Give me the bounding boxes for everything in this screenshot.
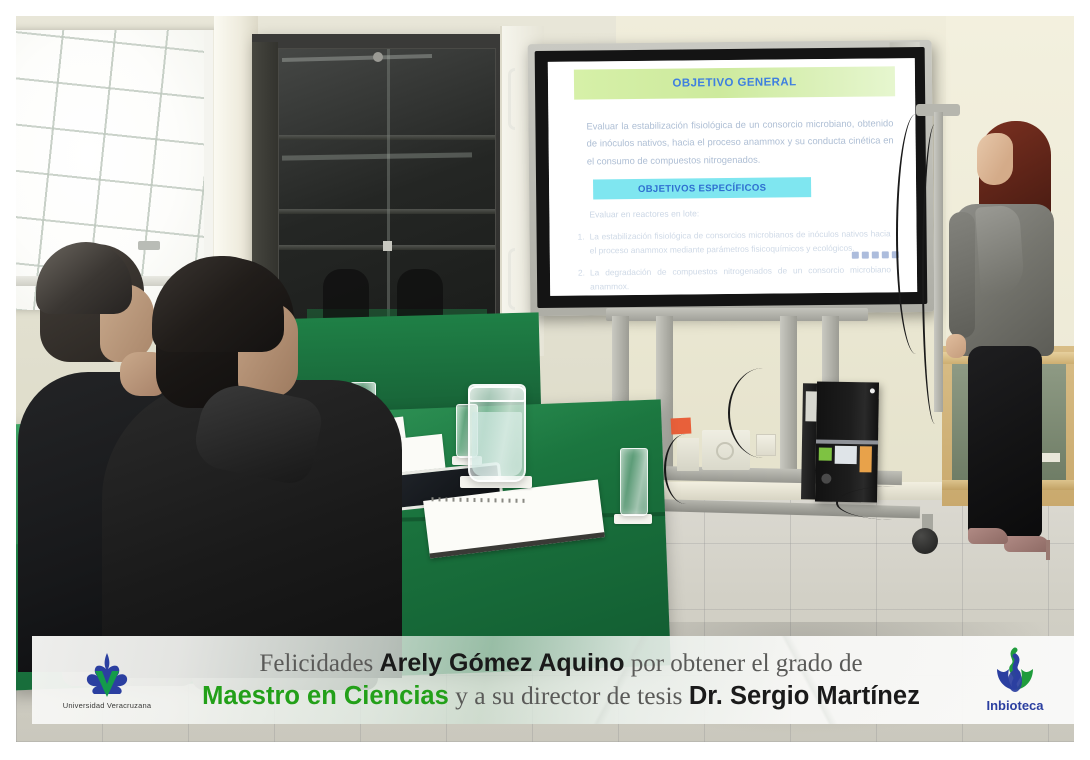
screen-display: OBJETIVO GENERAL Evaluar la estabilizaci…	[548, 58, 917, 296]
event-photograph: OBJETIVO GENERAL Evaluar la estabilizaci…	[16, 16, 1074, 742]
banner-line1-post: por obtener el grado de	[624, 650, 862, 677]
pc-led-indicator	[870, 388, 875, 393]
presentation-screen: OBJETIVO GENERAL Evaluar la estabilizaci…	[528, 40, 935, 316]
pc-trim-stripe	[816, 439, 878, 444]
cart-caster	[912, 528, 938, 554]
ppt-menu-icon	[882, 251, 889, 258]
slide-bullet-text: La degradación de compuestos nitrogenado…	[590, 264, 891, 291]
uv-logo-caption: Universidad Veracruzana	[63, 701, 151, 710]
presenter-face	[977, 133, 1013, 185]
presenter-shoe-heel	[1046, 540, 1050, 560]
slide-bullet-2: 2. La degradación de compuestos nitrogen…	[590, 262, 891, 294]
banner-line2-mid: y a su director de tesis	[449, 681, 689, 710]
slide-bullet-1: 1. La estabilización fisiológica de cons…	[590, 226, 891, 258]
pc-power-button[interactable]	[821, 474, 831, 484]
ppt-pen-icon	[852, 252, 859, 259]
banner-line-1: Felicidades Arely Gómez Aquino por obten…	[182, 647, 940, 680]
inbioteca-logo-caption: Inbioteca	[986, 698, 1043, 713]
presenter-hand	[946, 334, 966, 358]
av-cable	[728, 368, 798, 458]
banner-line1-pre: Felicidades	[259, 650, 379, 677]
water-glass	[620, 448, 648, 516]
inbioteca-logo: Inbioteca	[940, 647, 1074, 713]
uv-emblem-icon	[79, 651, 135, 699]
pc-white-sticker	[835, 446, 857, 464]
pitcher-water	[472, 412, 522, 476]
slide-bullet-number: 2.	[578, 266, 585, 280]
door-handle	[508, 248, 515, 310]
presenter-blazer-lapel	[975, 205, 1025, 298]
desktop-computer-tower	[815, 381, 879, 502]
advisor-name: Dr. Sergio Martínez	[689, 682, 920, 710]
equipment-pole	[934, 112, 943, 412]
pc-orange-sticker	[859, 446, 871, 472]
slide-bullet-text: La estabilización fisiológica de consorc…	[590, 228, 891, 255]
slide-header-band: OBJETIVO GENERAL	[574, 66, 895, 99]
notebook-spiral-binding	[431, 497, 527, 503]
slide-subheader-text: OBJETIVOS ESPECÍFICOS	[638, 182, 766, 194]
floor-cable	[836, 486, 956, 520]
orange-wall-plate	[671, 417, 692, 434]
presentation-slide: OBJETIVO GENERAL Evaluar la estabilizaci…	[548, 58, 917, 296]
cabinet-reflection-person	[397, 269, 443, 321]
slide-sub-intro: Evaluar en reactores en lote:	[589, 206, 894, 219]
congratulations-banner: Universidad Veracruzana Felicidades Arel…	[32, 636, 1074, 724]
banner-message: Felicidades Arely Gómez Aquino por obten…	[182, 647, 940, 713]
banner-line-2: Maestro en Ciencias y a su director de t…	[182, 680, 940, 713]
screenshot-root: OBJETIVO GENERAL Evaluar la estabilizaci…	[0, 0, 1090, 760]
ppt-prev-icon	[872, 251, 879, 258]
pitcher-rim	[468, 386, 526, 402]
presentation-toolbar-icons	[852, 251, 899, 258]
pc-green-sticker	[819, 448, 832, 461]
door-handle	[508, 68, 515, 130]
cabinet-lock-top	[373, 52, 383, 62]
screen-bezel: OBJETIVO GENERAL Evaluar la estabilizaci…	[535, 47, 928, 308]
universidad-veracruzana-logo: Universidad Veracruzana	[32, 651, 182, 710]
pc-label-sticker	[805, 391, 817, 421]
degree-name: Maestro en Ciencias	[202, 682, 449, 710]
slide-bullet-number: 1.	[578, 230, 585, 244]
presenter-trousers	[968, 346, 1042, 538]
cabinet-reflection-person	[323, 269, 369, 321]
speaker-knob[interactable]	[716, 442, 734, 460]
presenter-shoe	[968, 528, 1008, 544]
presenter-arm	[949, 212, 975, 338]
ppt-highlight-icon	[862, 252, 869, 259]
graduate-name: Arely Gómez Aquino	[380, 649, 625, 677]
inbioteca-emblem-icon	[989, 647, 1041, 697]
slide-subheader-band: OBJETIVOS ESPECÍFICOS	[593, 177, 811, 199]
slide-body-text: Evaluar la estabilización fisiológica de…	[586, 114, 894, 169]
presenter-shoe	[1004, 536, 1050, 552]
water-pitcher	[468, 384, 526, 482]
cabinet-lock	[383, 241, 392, 251]
window-latch	[138, 241, 160, 250]
slide-header-text: OBJETIVO GENERAL	[672, 76, 796, 89]
av-cable	[664, 434, 708, 504]
